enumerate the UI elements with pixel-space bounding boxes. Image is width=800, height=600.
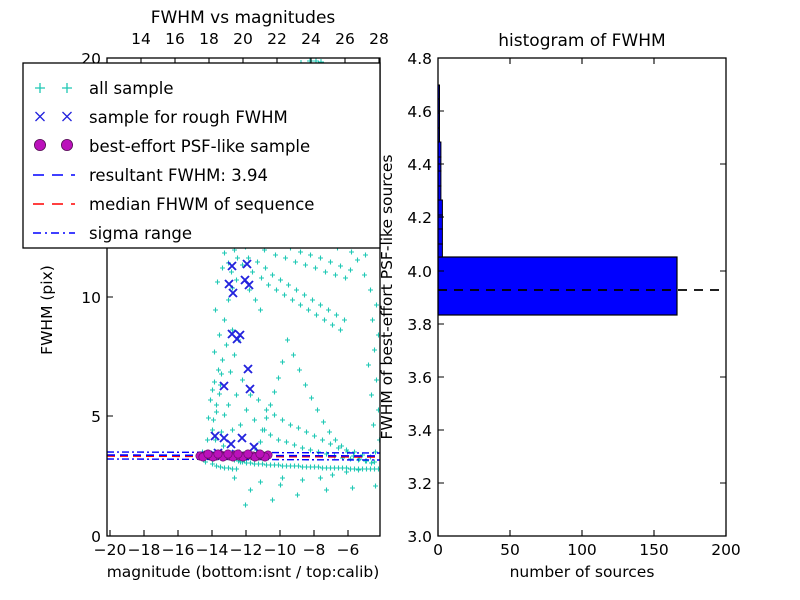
scatter-yaxis-label: FWHM (pix) [38, 265, 56, 355]
figure-canvas: FWHM vs magnitudes 14 16 18 20 22 24 26 … [0, 0, 800, 600]
top-tick-18: 18 [199, 30, 219, 48]
hist-y-tick-3.8: 3.8 [407, 316, 432, 334]
legend-label-psf-like: best-effort PSF-like sample [89, 137, 310, 156]
hist-x-tick-50: 50 [500, 541, 520, 559]
hist-x-tick-0: 0 [433, 541, 443, 559]
histogram-title: histogram of FWHM [498, 31, 665, 51]
x-tick--10: −10 [264, 541, 297, 559]
hist-x-tick-200: 200 [711, 541, 741, 559]
y-tick-0: 0 [91, 528, 101, 546]
hist-x-tick-150: 150 [639, 541, 669, 559]
scatter-plot-title: FWHM vs magnitudes [151, 8, 336, 28]
x-tick--14: −14 [196, 541, 229, 559]
x-tick--8: −8 [303, 541, 326, 559]
histogram-bar [438, 229, 442, 244]
x-tick--16: −16 [162, 541, 195, 559]
hist-y-tick-4.4: 4.4 [407, 156, 432, 174]
top-tick-20: 20 [233, 30, 253, 48]
hist-y-tick-3.6: 3.6 [407, 369, 432, 387]
top-tick-22: 22 [267, 30, 287, 48]
x-tick--18: −18 [128, 541, 161, 559]
top-tick-26: 26 [335, 30, 355, 48]
hist-y-tick-3.2: 3.2 [407, 475, 432, 493]
scatter-xaxis-label: magnitude (bottom:isnt / top:calib) [107, 563, 380, 581]
legend-label-sigma-range: sigma range [89, 224, 192, 243]
scatter-bottom-ticklabels: −20 −18 −16 −14 −12 −10 −8 −6 [94, 541, 360, 559]
legend-label-resultant-fwhm: resultant FWHM: 3.94 [89, 166, 268, 185]
scatter-legend: all sample sample for rough FWHM best-ef… [23, 63, 380, 248]
hist-y-tick-4.0: 4.0 [407, 263, 432, 281]
top-tick-28: 28 [369, 30, 389, 48]
legend-label-rough-fwhm: sample for rough FWHM [89, 108, 288, 127]
top-tick-16: 16 [165, 30, 185, 48]
x-tick--12: −12 [230, 541, 263, 559]
histogram-bar-main [438, 257, 677, 315]
hist-y-tick-3.0: 3.0 [407, 528, 432, 546]
hist-x-tick-100: 100 [567, 541, 597, 559]
hist-y-tick-3.4: 3.4 [407, 422, 432, 440]
y-tick-5: 5 [91, 408, 101, 426]
y-tick-10: 10 [81, 289, 101, 307]
histogram-yaxis-label: FWHM of best-effort PSF-like sources [378, 154, 396, 439]
x-tick--6: −6 [337, 541, 360, 559]
top-tick-14: 14 [131, 30, 151, 48]
histogram-bar [438, 244, 442, 257]
hist-y-tick-4.6: 4.6 [407, 103, 432, 121]
hist-y-tick-4.2: 4.2 [407, 209, 432, 227]
hist-y-tick-4.8: 4.8 [407, 50, 432, 68]
legend-label-all-sample: all sample [89, 79, 174, 98]
histogram-xaxis-label: number of sources [510, 563, 655, 581]
legend-label-median-fhwm: median FHWM of sequence [89, 195, 314, 214]
histogram-bar [438, 200, 442, 215]
top-tick-24: 24 [301, 30, 321, 48]
